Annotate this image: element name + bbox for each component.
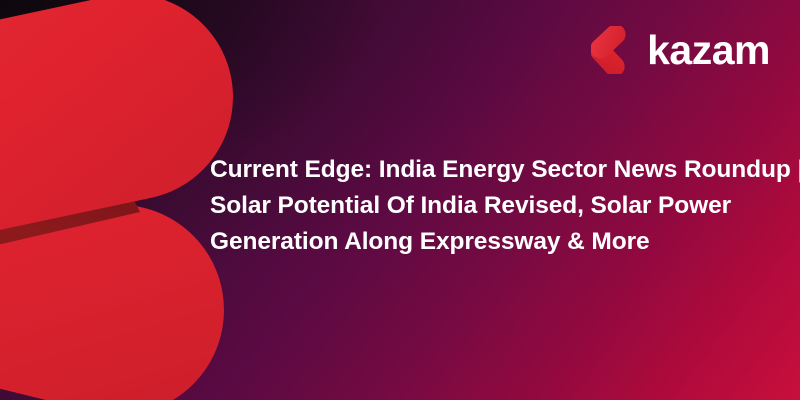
headline-line-2: Solar Potential Of India Revised, Solar … bbox=[210, 188, 770, 224]
banner-headline: Current Edge: India Energy Sector News R… bbox=[210, 152, 770, 260]
kazam-logo[interactable]: kazam bbox=[591, 26, 770, 74]
kazam-article-banner: kazam Current Edge: India Energy Sector … bbox=[0, 0, 800, 400]
headline-line-3: Generation Along Expressway & More bbox=[210, 224, 770, 260]
kazam-chevron-mark-icon bbox=[591, 26, 637, 74]
kazam-wordmark: kazam bbox=[647, 30, 770, 71]
headline-line-1: Current Edge: India Energy Sector News R… bbox=[210, 152, 770, 188]
